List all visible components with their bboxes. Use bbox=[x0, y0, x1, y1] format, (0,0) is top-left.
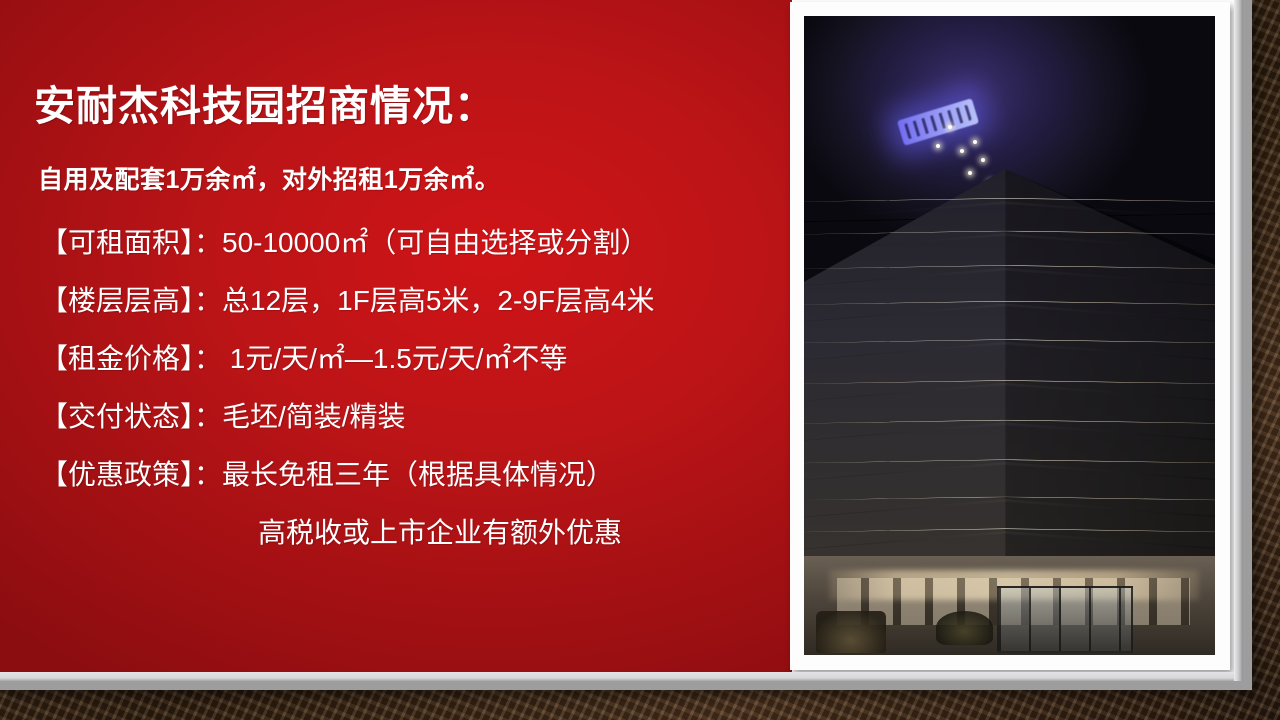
ground-floor-lobby bbox=[804, 556, 1215, 655]
entrance-glass-door bbox=[997, 586, 1133, 653]
slide-bottom-bar bbox=[0, 672, 1252, 690]
shrub-plant bbox=[936, 611, 994, 645]
building-night-photo bbox=[804, 16, 1215, 655]
page-title: 安耐杰科技园招商情况： bbox=[34, 84, 496, 129]
planter-pot bbox=[816, 611, 886, 653]
list-item: 高税收或上市企业有额外优惠 bbox=[40, 504, 792, 562]
list-item: 【优惠政策】：最长免租三年（根据具体情况） bbox=[40, 446, 792, 504]
list-item: 【楼层层高】：总12层，1F层高5米，2-9F层高4米 bbox=[40, 272, 792, 330]
page-subtitle: 自用及配套1万余㎡，对外招租1万余㎡。 bbox=[38, 160, 500, 196]
slide-canvas: 安耐杰科技园招商情况： 自用及配套1万余㎡，对外招租1万余㎡。 【可租面积】：5… bbox=[0, 0, 1280, 720]
text-content-block: 安耐杰科技园招商情况： 自用及配套1万余㎡，对外招租1万余㎡。 【可租面积】：5… bbox=[0, 0, 792, 672]
slide-card: 安耐杰科技园招商情况： 自用及配套1万余㎡，对外招租1万余㎡。 【可租面积】：5… bbox=[0, 0, 1252, 690]
slide-right-bar bbox=[1234, 0, 1252, 690]
list-item: 【可租面积】：50-10000㎡（可自由选择或分割） bbox=[40, 214, 792, 272]
list-item: 【交付状态】：毛坯/简装/精装 bbox=[40, 388, 792, 446]
photo-frame bbox=[790, 2, 1230, 670]
list-item: 【租金价格】： 1元/天/㎡—1.5元/天/㎡不等 bbox=[40, 330, 792, 388]
detail-list: 【可租面积】：50-10000㎡（可自由选择或分割） 【楼层层高】：总12层，1… bbox=[40, 214, 792, 562]
